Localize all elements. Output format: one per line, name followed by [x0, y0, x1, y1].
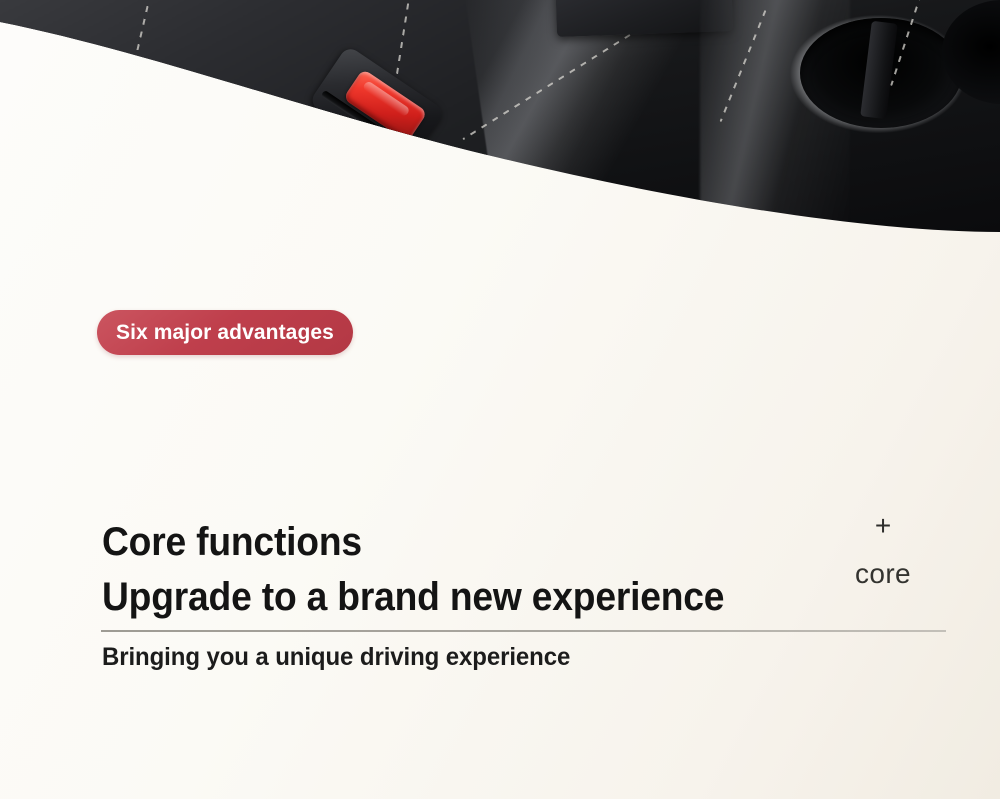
divider [101, 630, 946, 632]
core-mark-label: core [818, 558, 948, 590]
section-badge: Six major advantages [97, 310, 353, 355]
section-badge-label: Six major advantages [116, 321, 334, 345]
page-subtitle: Bringing you a unique driving experience [102, 643, 570, 672]
leather-seam [59, 150, 802, 250]
stitch-line [462, 27, 641, 140]
hero-photo [0, 0, 1000, 250]
core-mark: + core [818, 512, 948, 590]
plus-icon: + [818, 512, 948, 540]
promo-page: Six major advantages Core functions Upgr… [0, 0, 1000, 799]
car-interior-image [0, 0, 1000, 250]
page-title: Core functions Upgrade to a brand new ex… [102, 514, 724, 626]
headline-line-2: Upgrade to a brand new experience [102, 569, 724, 626]
headline-line-1: Core functions [102, 514, 724, 571]
